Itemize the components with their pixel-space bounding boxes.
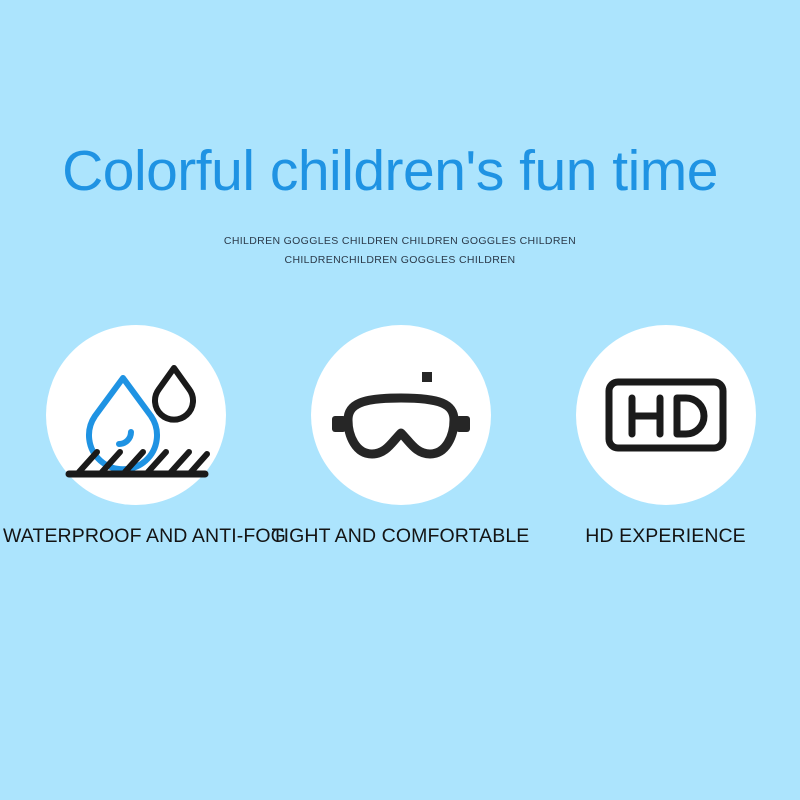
feature-item-waterproof: WATERPROOF AND ANTI-FOG (3, 325, 268, 548)
subheadline-line-2: CHILDRENCHILDREN GOGGLES CHILDREN (0, 251, 800, 270)
feature-item-hd: HD EXPERIENCE (533, 325, 798, 548)
hd-badge-icon (591, 350, 741, 480)
product-feature-banner: Colorful children's fun time CHILDREN GO… (0, 0, 800, 800)
feature-caption: TIGHT AND COMFORTABLE (268, 524, 533, 548)
feature-item-comfort: TIGHT AND COMFORTABLE (268, 325, 533, 548)
feature-icon-circle (576, 325, 756, 505)
feature-icon-circle (311, 325, 491, 505)
feature-caption: HD EXPERIENCE (533, 524, 798, 548)
feature-caption: WATERPROOF AND ANTI-FOG (3, 524, 268, 548)
subheadline-line-1: CHILDREN GOGGLES CHILDREN CHILDREN GOGGL… (0, 232, 800, 251)
swim-goggles-icon (326, 350, 476, 480)
banner-subheadline: CHILDREN GOGGLES CHILDREN CHILDREN GOGGL… (0, 232, 800, 270)
feature-list: WATERPROOF AND ANTI-FOG TIGHT AND COMFOR… (0, 325, 800, 585)
banner-headline: Colorful children's fun time (0, 140, 780, 202)
water-drop-on-surface-icon (61, 350, 211, 480)
feature-icon-circle (46, 325, 226, 505)
